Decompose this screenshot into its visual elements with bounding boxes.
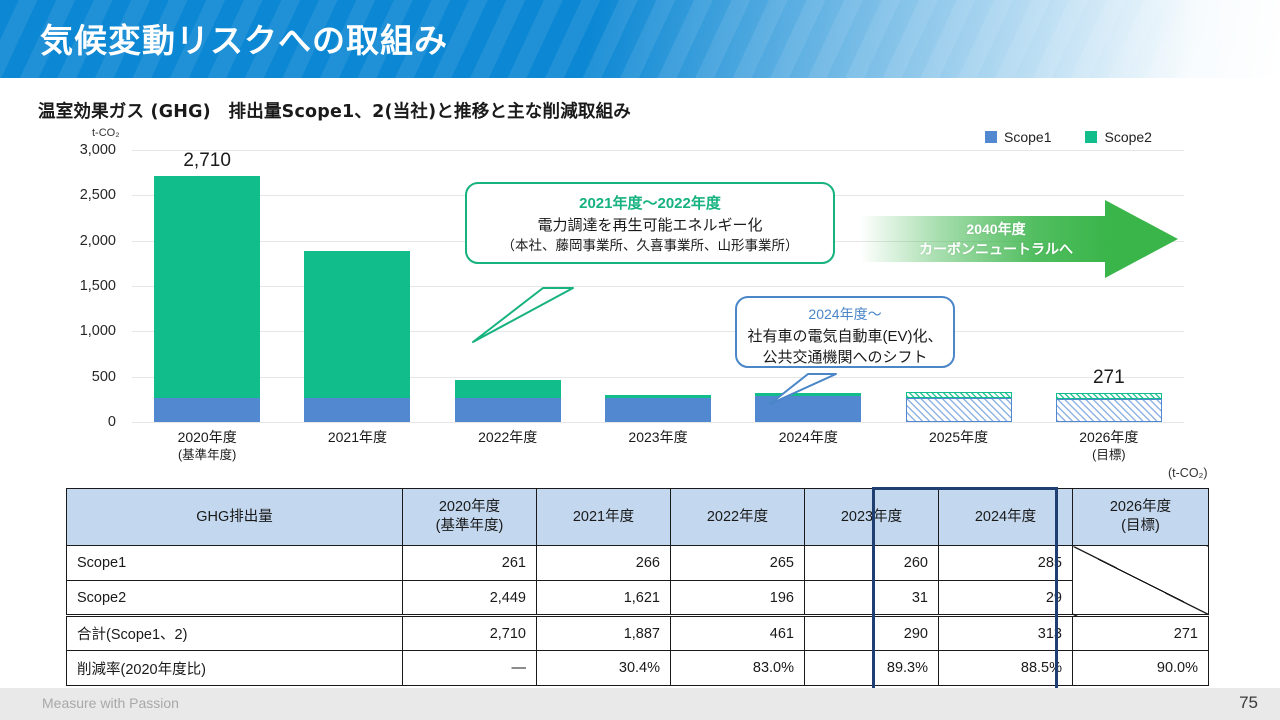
table-cell: 266 bbox=[537, 546, 671, 581]
table-cell: 2,710 bbox=[403, 616, 537, 651]
table-cell: ― bbox=[403, 651, 537, 686]
table-row: Scope22,4491,6211963129 bbox=[67, 581, 1209, 616]
table-cell: 1,621 bbox=[537, 581, 671, 616]
x-tick-label: 2026年度(目標) bbox=[1079, 428, 1138, 464]
y-axis-unit-label: t-CO₂ bbox=[92, 127, 120, 139]
y-tick-label: 0 bbox=[108, 414, 116, 430]
table-row-label: 合計(Scope1、2) bbox=[67, 616, 403, 651]
gridline bbox=[132, 422, 1184, 423]
table-cell: 2,449 bbox=[403, 581, 537, 616]
table-row-label: Scope1 bbox=[67, 546, 403, 581]
table-cell: 261 bbox=[403, 546, 537, 581]
table-head: GHG排出量2020年度(基準年度)2021年度2022年度2023年度2024… bbox=[67, 489, 1209, 546]
ghg-emissions-table: GHG排出量2020年度(基準年度)2021年度2022年度2023年度2024… bbox=[66, 488, 1208, 686]
table-cell-not-applicable bbox=[1073, 546, 1209, 616]
bar-2021年度 bbox=[304, 251, 410, 422]
table-header-col6: 2026年度(目標) bbox=[1073, 489, 1209, 546]
bar-2025年度 bbox=[906, 396, 1012, 422]
table-body: Scope1261266265260285Scope22,4491,621196… bbox=[67, 546, 1209, 686]
table-cell: 31 bbox=[805, 581, 939, 616]
x-tick-label: 2022年度 bbox=[478, 428, 537, 447]
y-tick-label: 500 bbox=[92, 369, 116, 385]
callout-green-line1: 電力調達を再生可能エネルギー化 bbox=[467, 215, 833, 236]
bar-segment-scope1 bbox=[1056, 399, 1162, 422]
table-cell: 88.5% bbox=[939, 651, 1073, 686]
bar-value-label: 2,710 bbox=[183, 150, 231, 172]
table-header-row: GHG排出量2020年度(基準年度)2021年度2022年度2023年度2024… bbox=[67, 489, 1209, 546]
table-cell: 30.4% bbox=[537, 651, 671, 686]
bar-segment-scope1 bbox=[154, 398, 260, 422]
table-row-label: Scope2 bbox=[67, 581, 403, 616]
y-tick-label: 2,500 bbox=[80, 187, 116, 203]
chart-legend: Scope1 Scope2 bbox=[985, 129, 1152, 145]
legend-label-scope1: Scope1 bbox=[1004, 129, 1051, 145]
bar-segment-scope1 bbox=[455, 398, 561, 422]
y-axis-labels: 05001,0001,5002,0002,5003,000 bbox=[0, 150, 124, 422]
table-header-metric: GHG排出量 bbox=[67, 489, 403, 546]
table-header-col5: 2024年度 bbox=[939, 489, 1073, 546]
table-cell: 1,887 bbox=[537, 616, 671, 651]
table-header-col1: 2020年度(基準年度) bbox=[403, 489, 537, 546]
table-cell: 461 bbox=[671, 616, 805, 651]
table-cell: 90.0% bbox=[1073, 651, 1209, 686]
bar-2023年度 bbox=[605, 396, 711, 422]
legend-label-scope2: Scope2 bbox=[1104, 129, 1151, 145]
chart-unit-note: (t-CO₂) bbox=[1168, 466, 1208, 480]
table-cell: 265 bbox=[671, 546, 805, 581]
green-callout-tail bbox=[455, 250, 715, 345]
arrow-label: 2040年度 カーボンニュートラルへ bbox=[860, 219, 1132, 260]
bar-segment-scope2 bbox=[1056, 393, 1162, 399]
table-row: 合計(Scope1、2)2,7101,887461290313271 bbox=[67, 616, 1209, 651]
table-cell: 290 bbox=[805, 616, 939, 651]
emissions-data-table: GHG排出量2020年度(基準年度)2021年度2022年度2023年度2024… bbox=[66, 488, 1209, 686]
bar-segment-scope1 bbox=[906, 398, 1012, 422]
x-tick-label: 2020年度(基準年度) bbox=[178, 428, 237, 464]
ghg-emissions-chart: t-CO₂ (t-CO₂) Scope1 Scope2 05001,0001,5… bbox=[0, 0, 1280, 490]
slide-footer: Measure with Passion 75 bbox=[0, 688, 1280, 720]
slide: 気候変動リスクへの取組み 温室効果ガス (GHG) 排出量Scope1、2(当社… bbox=[0, 0, 1280, 720]
gridline bbox=[132, 150, 1184, 151]
table-cell: 285 bbox=[939, 546, 1073, 581]
table-cell: 196 bbox=[671, 581, 805, 616]
y-tick-label: 1,000 bbox=[80, 323, 116, 339]
arrow-line2: カーボンニュートラルへ bbox=[860, 239, 1132, 259]
bar-segment-scope2 bbox=[154, 176, 260, 398]
x-tick-label: 2021年度 bbox=[328, 428, 387, 447]
table-cell: 271 bbox=[1073, 616, 1209, 651]
page-number: 75 bbox=[1239, 693, 1258, 713]
y-tick-label: 1,500 bbox=[80, 278, 116, 294]
bar-segment-scope2 bbox=[455, 380, 561, 398]
callout-green-head: 2021年度～2022年度 bbox=[467, 192, 833, 213]
table-cell: 313 bbox=[939, 616, 1073, 651]
x-tick-label: 2024年度 bbox=[779, 428, 838, 447]
table-cell: 89.3% bbox=[805, 651, 939, 686]
table-row: 削減率(2020年度比)―30.4%83.0%89.3%88.5%90.0% bbox=[67, 651, 1209, 686]
bar-segment-scope2 bbox=[605, 395, 711, 398]
callout-ev-shift: 2024年度～ 社有車の電気自動車(EV)化、 公共交通機関へのシフト bbox=[735, 296, 955, 368]
bar-value-label: 271 bbox=[1093, 367, 1125, 389]
callout-renewable-energy: 2021年度～2022年度 電力調達を再生可能エネルギー化 （本社、藤岡事業所、… bbox=[465, 182, 835, 264]
table-header-col2: 2021年度 bbox=[537, 489, 671, 546]
bar-2022年度 bbox=[455, 380, 561, 422]
carbon-neutral-arrow: 2040年度 カーボンニュートラルへ bbox=[860, 198, 1180, 280]
table-cell: 260 bbox=[805, 546, 939, 581]
legend-swatch-scope2 bbox=[1085, 131, 1097, 143]
table-cell: 29 bbox=[939, 581, 1073, 616]
bar-2020年度: 2,710 bbox=[154, 176, 260, 422]
callout-green-line2: （本社、藤岡事業所、久喜事業所、山形事業所） bbox=[467, 236, 833, 255]
table-cell: 83.0% bbox=[671, 651, 805, 686]
y-tick-label: 2,000 bbox=[80, 233, 116, 249]
callout-blue-head: 2024年度～ bbox=[737, 304, 953, 324]
callout-blue-line2: 公共交通機関へのシフト bbox=[737, 347, 953, 368]
bar-segment-scope1 bbox=[605, 398, 711, 422]
callout-blue-line1: 社有車の電気自動車(EV)化、 bbox=[737, 326, 953, 347]
legend-item-scope1: Scope1 bbox=[985, 129, 1051, 145]
table-row: Scope1261266265260285 bbox=[67, 546, 1209, 581]
bar-segment-scope2 bbox=[906, 392, 1012, 398]
bar-segment-scope1 bbox=[304, 398, 410, 422]
x-tick-label: 2023年度 bbox=[628, 428, 687, 447]
table-row-label: 削減率(2020年度比) bbox=[67, 651, 403, 686]
x-tick-label: 2025年度 bbox=[929, 428, 988, 447]
legend-swatch-scope1 bbox=[985, 131, 997, 143]
footer-tagline: Measure with Passion bbox=[42, 695, 179, 711]
table-header-col4: 2023年度 bbox=[805, 489, 939, 546]
arrow-line1: 2040年度 bbox=[860, 219, 1132, 239]
y-tick-label: 3,000 bbox=[80, 142, 116, 158]
table-header-col3: 2022年度 bbox=[671, 489, 805, 546]
bar-segment-scope2 bbox=[304, 251, 410, 398]
legend-item-scope2: Scope2 bbox=[1085, 129, 1151, 145]
bar-2026年度: 271 bbox=[1056, 397, 1162, 422]
gridline bbox=[132, 377, 1184, 378]
